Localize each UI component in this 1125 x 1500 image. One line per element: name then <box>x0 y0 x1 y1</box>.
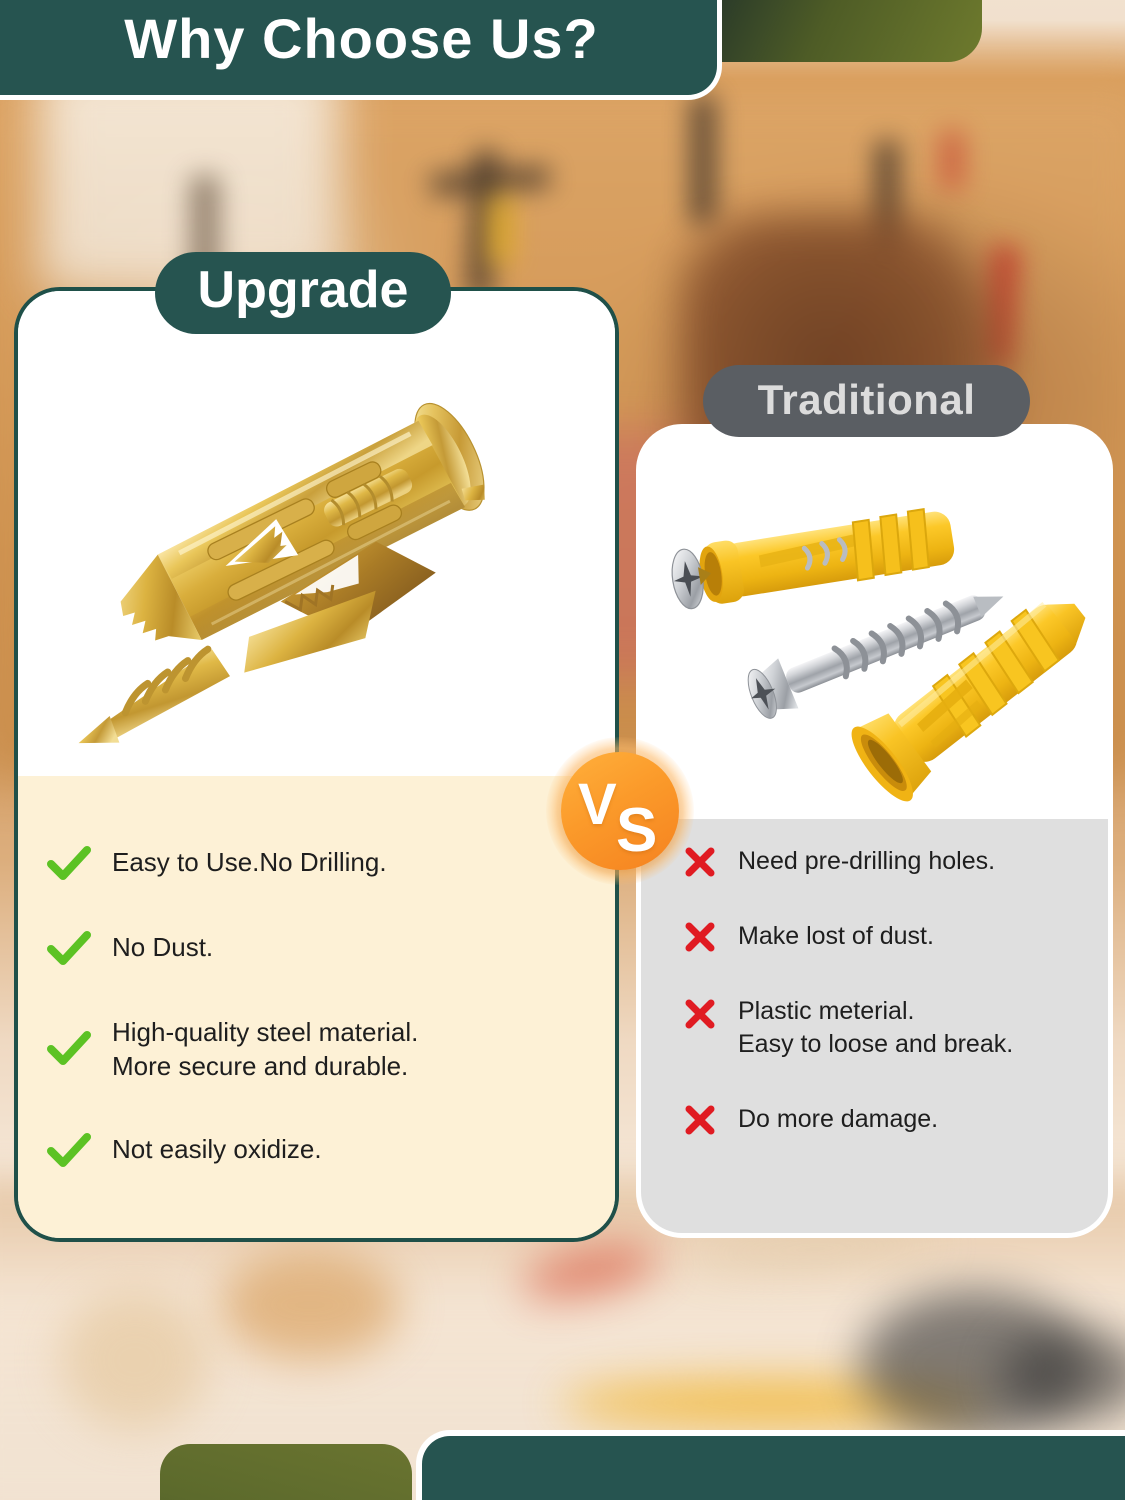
list-item-label: Easy to Use.No Drilling. <box>112 845 387 879</box>
check-icon <box>46 1133 92 1169</box>
list-item: Make lost of dust. <box>680 920 1090 953</box>
cross-icon <box>680 998 720 1030</box>
header-banner: Why Choose Us? <box>0 0 722 100</box>
page-title: Why Choose Us? <box>104 6 598 75</box>
decor-slab-bottom-right <box>416 1430 1125 1500</box>
upgrade-product-photo <box>18 291 615 776</box>
list-item: Plastic meterial. Easy to loose and brea… <box>680 995 1090 1061</box>
cross-icon <box>680 921 720 953</box>
infographic-page: Why Choose Us? <box>0 0 1125 1500</box>
versus-letter-s: S <box>616 800 657 862</box>
cross-icon <box>680 846 720 878</box>
upgrade-badge: Upgrade <box>155 252 451 334</box>
wood-block <box>60 1290 210 1430</box>
list-item: Need pre-drilling holes. <box>680 845 1090 878</box>
list-item-label: Not easily oxidize. <box>112 1132 322 1166</box>
check-icon <box>46 931 92 967</box>
list-item-label: Make lost of dust. <box>738 920 934 953</box>
traditional-product-photo <box>641 429 1108 819</box>
list-item-label: Do more damage. <box>738 1103 938 1136</box>
traditional-badge: Traditional <box>703 365 1030 437</box>
hanging-tool-icon <box>940 130 964 190</box>
list-item: Not easily oxidize. <box>46 1132 586 1169</box>
hanging-tool-icon <box>690 95 716 225</box>
list-item: High-quality steel material. More secure… <box>46 1015 586 1084</box>
traditional-badge-label: Traditional <box>758 376 976 427</box>
wood-block <box>220 1250 400 1360</box>
decor-slab-bottom-left <box>160 1444 412 1500</box>
upgrade-feature-list: Easy to Use.No Drilling. No Dust. High-q… <box>46 845 586 1169</box>
list-item: No Dust. <box>46 930 586 967</box>
list-item-label: No Dust. <box>112 930 213 964</box>
versus-letter-v: V <box>578 776 617 834</box>
check-icon <box>46 846 92 882</box>
gold-metal-anchor-icon <box>18 291 619 776</box>
list-item: Easy to Use.No Drilling. <box>46 845 586 882</box>
cross-icon <box>680 1104 720 1136</box>
hanging-tool-icon <box>490 195 512 265</box>
list-item-label: Need pre-drilling holes. <box>738 845 995 878</box>
traditional-feature-list: Need pre-drilling holes. Make lost of du… <box>680 845 1090 1136</box>
list-item-label: High-quality steel material. More secure… <box>112 1015 418 1084</box>
upgrade-badge-label: Upgrade <box>198 260 409 326</box>
list-item-label: Plastic meterial. Easy to loose and brea… <box>738 995 1013 1061</box>
decor-slab-top-right <box>722 0 982 62</box>
list-item: Do more damage. <box>680 1103 1090 1136</box>
plastic-wall-plug-icon <box>641 429 1113 819</box>
check-icon <box>46 1031 92 1067</box>
